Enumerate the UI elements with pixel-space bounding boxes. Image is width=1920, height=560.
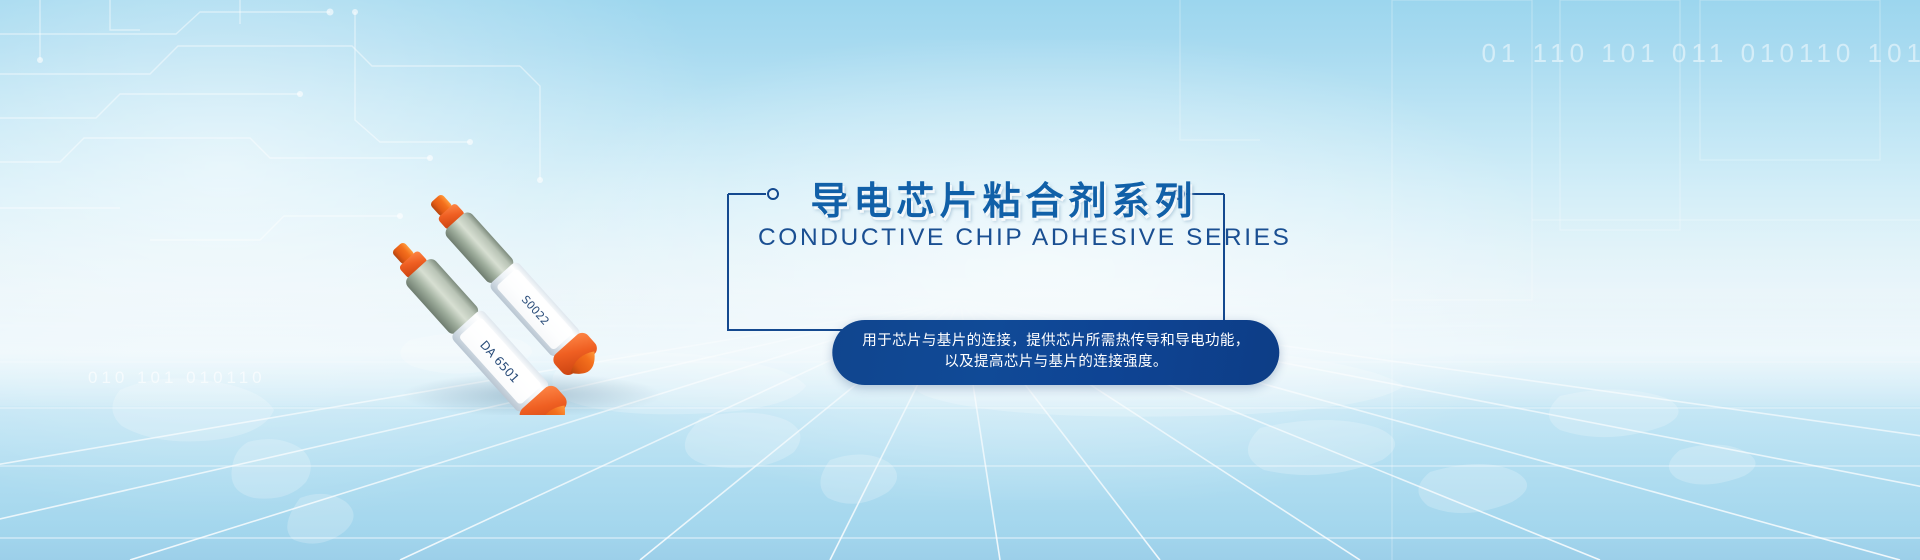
headline-block: 导电芯片粘合剂系列 CONDUCTIVE CHIP ADHESIVE SERIE… xyxy=(722,168,1230,308)
binary-text-top-right: 01 110 101 011 010110 101 xyxy=(1481,38,1920,69)
banner-title-cn: 导电芯片粘合剂系列 xyxy=(778,170,1230,225)
banner-title-en: CONDUCTIVE CHIP ADHESIVE SERIES xyxy=(758,224,1230,252)
description-line-1: 用于芯片与基片的连接，提供芯片所需热传导和导电功能， xyxy=(862,331,1249,352)
hero-banner: 01 110 101 011 010110 101 010 101 010110 xyxy=(0,0,1920,560)
product-image-syringes: S0022 DA 6501 xyxy=(300,95,700,415)
description-line-2: 以及提高芯片与基片的连接强度。 xyxy=(862,352,1249,373)
banner-description-box: 用于芯片与基片的连接，提供芯片所需热传导和导电功能， 以及提高芯片与基片的连接强… xyxy=(832,320,1279,385)
